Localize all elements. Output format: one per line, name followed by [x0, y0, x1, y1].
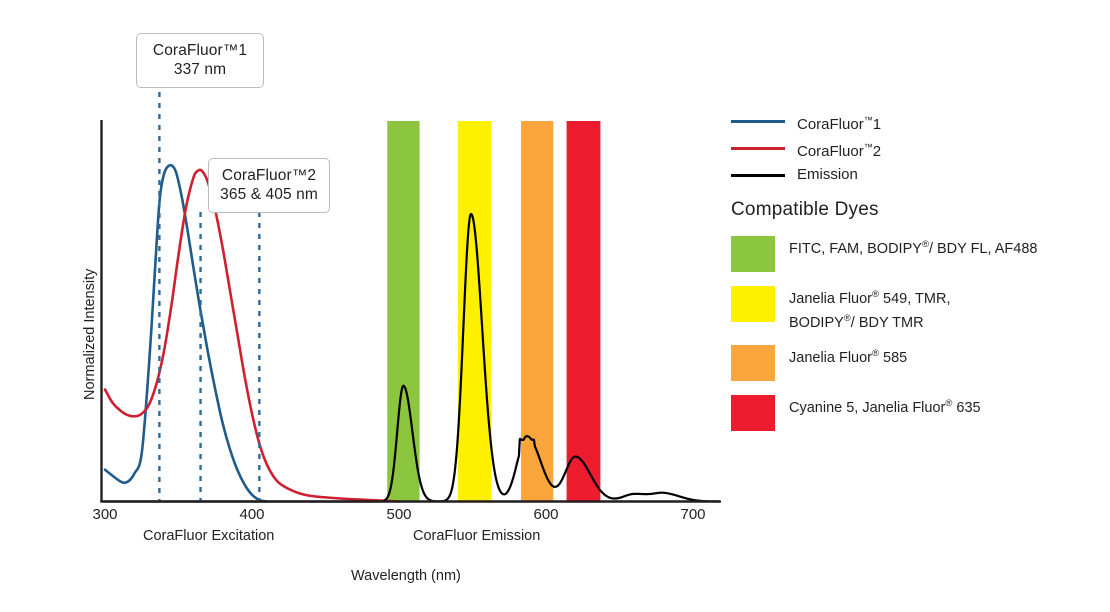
curve-corafluor2 — [105, 170, 399, 502]
dye-green-sup1: ® — [922, 239, 929, 250]
legend-suffix-corafluor2: 2 — [873, 143, 881, 160]
dye-orange-text1b: 585 — [879, 350, 907, 366]
legend-text-corafluor2: CoraFluor — [797, 143, 864, 160]
dye-label-yellow: Janelia Fluor® 549, TMR, BODIPY®/ BDY TM… — [789, 285, 950, 333]
dye-green-text1b: / BDY FL, AF488 — [929, 241, 1038, 257]
compatible-dyes-title: Compatible Dyes — [731, 199, 879, 221]
dye-yellow-line2: BODIPY®/ BDY TMR — [789, 309, 950, 333]
x-section-excitation-label: CoraFluor Excitation — [143, 528, 274, 544]
legend-item-corafluor2: CoraFluor™2 — [731, 135, 1071, 162]
legend-suffix-corafluor1: 1 — [873, 116, 881, 133]
legend-label-emission: Emission — [797, 162, 858, 187]
legend-label-corafluor2: CoraFluor™2 — [797, 135, 881, 164]
legend-item-corafluor1: CoraFluor™1 — [731, 108, 1071, 135]
x-tick-700: 700 — [663, 506, 723, 523]
legend-swatch-corafluor1 — [731, 120, 785, 123]
dye-label-red: Cyanine 5, Janelia Fluor® 635 — [789, 394, 981, 418]
x-axis-title: Wavelength (nm) — [351, 568, 461, 584]
annotation-corafluor2-box: CoraFluor™2 365 & 405 nm — [208, 158, 330, 213]
annotation-corafluor2-line1: CoraFluor™2 — [222, 167, 316, 184]
dye-yellow-text2b: / BDY TMR — [851, 315, 924, 331]
dye-swatch-red — [731, 395, 775, 431]
legend-label-corafluor1: CoraFluor™1 — [797, 108, 881, 137]
dye-green-text1: FITC, FAM, BODIPY — [789, 241, 922, 257]
emission-band-2 — [521, 121, 553, 502]
dye-yellow-sup1: ® — [872, 289, 879, 300]
dye-orange-text1: Janelia Fluor — [789, 350, 872, 366]
annotation-corafluor1-line1: CoraFluor™1 — [153, 42, 247, 59]
legend-text-corafluor1: CoraFluor — [797, 116, 864, 133]
x-tick-600: 600 — [516, 506, 576, 523]
dye-label-green: FITC, FAM, BODIPY®/ BDY FL, AF488 — [789, 235, 1037, 259]
dye-orange-sup1: ® — [872, 348, 879, 359]
annotation-corafluor1-box: CoraFluor™1 337 nm — [136, 33, 264, 88]
dye-yellow-text1b: 549, TMR, — [879, 291, 950, 307]
emission-band-1 — [458, 121, 492, 502]
x-tick-400: 400 — [222, 506, 282, 523]
dye-red-text1b: 635 — [952, 400, 980, 416]
dye-yellow-text1: Janelia Fluor — [789, 291, 872, 307]
x-section-emission-label: CoraFluor Emission — [413, 528, 540, 544]
legend-text-emission: Emission — [797, 166, 858, 183]
y-axis-title: Normalized Intensity — [82, 269, 98, 400]
dye-label-orange: Janelia Fluor® 585 — [789, 344, 907, 368]
legend-sup-corafluor1: ™ — [864, 115, 873, 125]
dye-yellow-text2: BODIPY — [789, 315, 844, 331]
legend-item-emission: Emission — [731, 162, 1071, 189]
fluorescence-spectra-figure: CoraFluor™1 337 nm CoraFluor™2 365 & 405… — [0, 0, 1110, 612]
legend-sup-corafluor2: ™ — [864, 142, 873, 152]
dye-yellow-sup2: ® — [844, 313, 851, 324]
legend-swatch-corafluor2 — [731, 147, 785, 150]
dye-red-text1: Cyanine 5, Janelia Fluor — [789, 400, 945, 416]
dye-swatch-green — [731, 236, 775, 272]
legend-swatch-emission — [731, 174, 785, 177]
emission-band-3 — [567, 121, 601, 502]
annotation-corafluor1-line2: 337 nm — [147, 60, 253, 79]
legend: CoraFluor™1 CoraFluor™2 Emission — [731, 108, 1071, 189]
x-tick-500: 500 — [369, 506, 429, 523]
annotation-corafluor2-line2: 365 & 405 nm — [219, 185, 319, 204]
dye-swatch-orange — [731, 345, 775, 381]
x-tick-300: 300 — [75, 506, 135, 523]
dye-swatch-yellow — [731, 286, 775, 322]
